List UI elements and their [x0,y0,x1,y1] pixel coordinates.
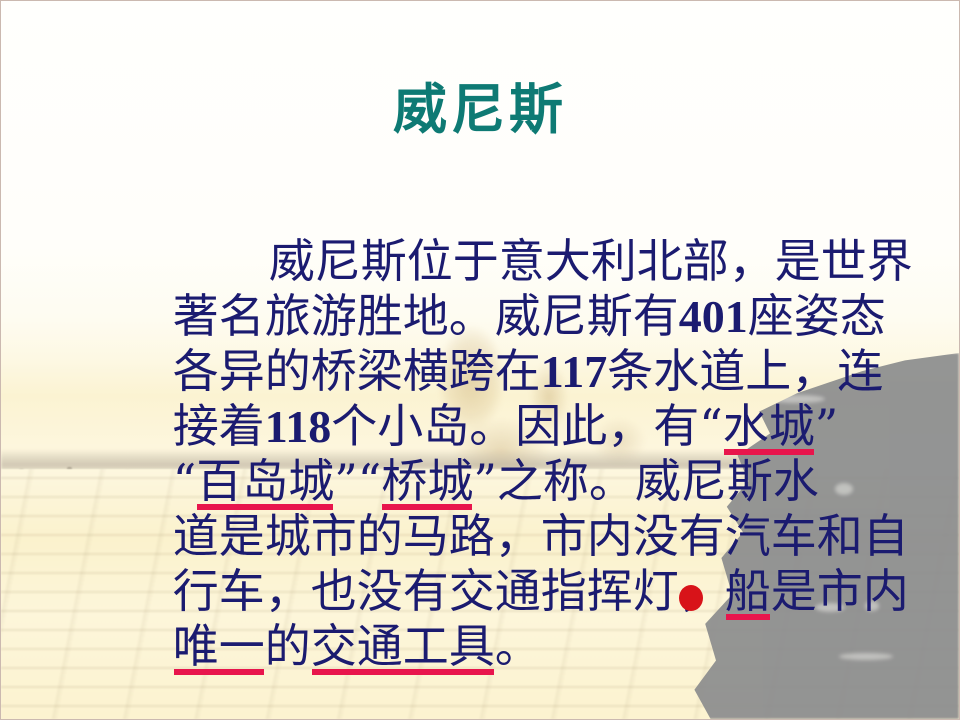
slide-title: 威尼斯 [1,83,959,137]
body-line-2-text-a: 著名旅游胜地。威尼斯有 [173,289,679,343]
island-count-number: 118 [265,401,331,452]
emphasis-underline-chuan: 船 [725,564,771,619]
bridge-count-number: 401 [679,291,748,342]
emphasis-underline-weiyi: 唯一 [173,619,265,674]
body-line-3-text-a: 各异的桥梁横跨在 [173,344,541,398]
body-line-8-text-a: 的 [265,619,311,673]
emphasis-underline-shuicheng: 水城 [723,399,815,454]
body-line-2-text-b: 座姿态 [748,289,886,343]
body-line-7-text-a: 行车，也没有交通指挥灯， [173,564,725,618]
body-line-1: 威尼斯位于意大利北部，是世界 [85,179,885,234]
emphasis-underline-baidaocheng: 百岛城 [196,454,334,509]
body-line-7-text-b: 是市内 [771,564,909,618]
body-line-5-text-b: ”“ [334,454,381,508]
body-line-3-text-b: 条水道上，连 [607,344,883,398]
body-line-1-text: 威尼斯位于意大利北部，是世界 [269,234,913,288]
body-line-4-text-c: ” [815,399,839,453]
body-line-5-text-a: “ [173,454,197,508]
body-line-4-text-a: 接着 [173,399,265,453]
body-line-4-text-b: 个小岛。因此，有“ [331,399,723,453]
emphasis-underline-jiaotonggongju: 交通工具 [311,619,495,674]
body-paragraph: 威尼斯位于意大利北部，是世界 著名旅游胜地。威尼斯有401座姿态 各异的桥梁横跨… [85,179,885,619]
red-dot-marker [679,585,703,611]
emphasis-underline-qiaocheng: 桥城 [381,454,473,509]
body-line-8-text-b: 。 [495,619,541,673]
body-line-5-text-c: ”之称。威尼斯水 [473,454,819,508]
presentation-slide: 威尼斯 威尼斯位于意大利北部，是世界 著名旅游胜地。威尼斯有401座姿态 各异的… [0,0,960,720]
body-line-6-text: 道是城市的马路，市内没有汽车和自 [173,509,909,563]
canal-count-number: 117 [541,346,607,397]
